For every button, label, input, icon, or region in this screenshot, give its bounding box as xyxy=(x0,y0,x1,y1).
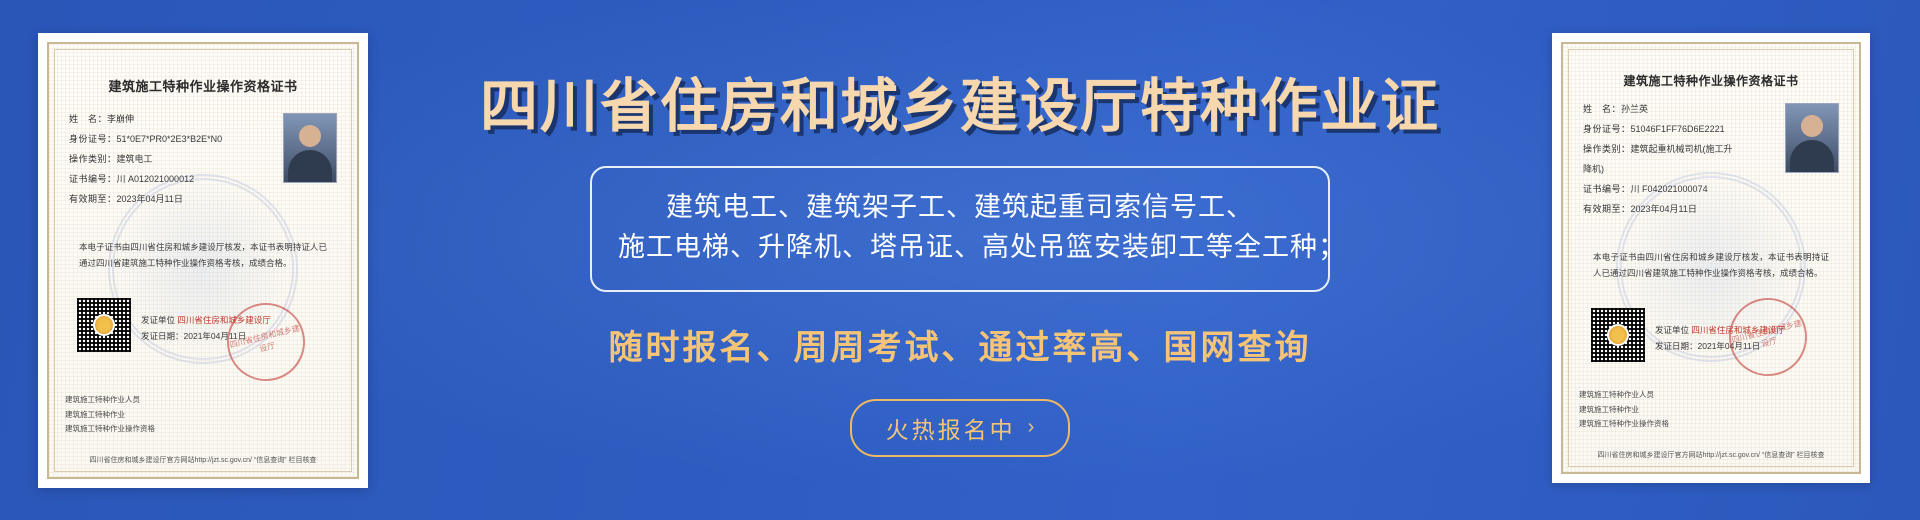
certificate-field-row: 姓 名：李崩伸 xyxy=(69,113,275,126)
certificate-photo-left xyxy=(283,113,337,183)
certificate-verify-url-right: 四川省住房和城乡建设厅官方网站http://jzt.sc.gov.cn/ “信息… xyxy=(1563,450,1859,460)
certificate-footer-left: 发证单位 四川省住房和城乡建设厅 发证日期：2021年04月11日 xyxy=(77,298,329,352)
note-line: 建筑施工特种作业操作资格 xyxy=(65,422,155,437)
field-value: 2023年04月11日 xyxy=(117,194,183,204)
certificate-footer-right: 发证单位 四川省住房和城乡建设厅 发证日期：2021年04月11日 xyxy=(1591,308,1831,362)
certificate-field-row: 身份证号：51046F1FF76D6E2221 xyxy=(1583,123,1777,136)
certificate-fields-left: 姓 名：李崩伸 身份证号：51*0E7*PR0*2E3*B2E*N0 操作类别：… xyxy=(69,113,275,213)
field-label: 操作类别： xyxy=(69,154,117,164)
qr-code-icon[interactable] xyxy=(77,298,131,352)
promo-banner: 建筑施工特种作业操作资格证书 姓 名：李崩伸 身份证号：51*0E7*PR0*2… xyxy=(0,0,1920,520)
certificate-field-row: 有效期至：2023年04月11日 xyxy=(1583,203,1777,216)
certificate-field-row: 姓 名：孙兰英 xyxy=(1583,103,1777,116)
certificate-notes-left: 建筑施工特种作业人员 建筑施工特种作业 建筑施工特种作业操作资格 xyxy=(65,393,155,437)
certificate-issue-right: 发证单位 四川省住房和城乡建设厅 发证日期：2021年04月11日 xyxy=(1655,308,1785,354)
field-value: 川 F042021000074 xyxy=(1631,184,1708,194)
certificate-paragraph-left: 本电子证书由四川省住房和城乡建设厅核发，本证书表明持证人已通过四川省建筑施工特种… xyxy=(79,239,327,271)
field-value: 建筑起重机械司机(施工升 xyxy=(1631,144,1733,154)
certificate-photo-right xyxy=(1785,103,1839,173)
scope-line-2: 施工电梯、升降机、塔吊证、高处吊篮安装卸工等全工种； xyxy=(618,228,1302,268)
field-label: 证书编号： xyxy=(1583,184,1631,194)
certificate-field-row: 操作类别：建筑起重机械司机(施工升 xyxy=(1583,143,1777,156)
note-line: 建筑施工特种作业人员 xyxy=(1579,388,1669,403)
certificate-field-row: 证书编号：川 A012021000012 xyxy=(69,173,275,186)
certificate-inner-left: 建筑施工特种作业操作资格证书 姓 名：李崩伸 身份证号：51*0E7*PR0*2… xyxy=(47,42,359,479)
field-label: 身份证号： xyxy=(69,134,117,144)
scope-line-1: 建筑电工、建筑架子工、建筑起重司索信号工、 xyxy=(618,188,1302,228)
field-label: 姓 名： xyxy=(1583,104,1621,114)
certificate-issue-left: 发证单位 四川省住房和城乡建设厅 发证日期：2021年04月11日 xyxy=(141,298,271,344)
certificate-field-row: 证书编号：川 F042021000074 xyxy=(1583,183,1777,196)
field-value: 川 A012021000012 xyxy=(117,174,195,184)
certificate-field-row: 操作类别：建筑电工 xyxy=(69,153,275,166)
issue-date: 2021年04月11日 xyxy=(1698,341,1761,351)
field-label: 有效期至： xyxy=(69,194,117,204)
banner-content: 四川省住房和城乡建设厅特种作业证 建筑电工、建筑架子工、建筑起重司索信号工、 施… xyxy=(372,0,1548,520)
certificate-fields-right: 姓 名：孙兰英 身份证号：51046F1FF76D6E2221 操作类别：建筑起… xyxy=(1583,103,1777,223)
field-value: 降机) xyxy=(1583,164,1604,174)
certificate-body-left: 姓 名：李崩伸 身份证号：51*0E7*PR0*2E3*B2E*N0 操作类别：… xyxy=(63,113,343,213)
certificate-card-left: 建筑施工特种作业操作资格证书 姓 名：李崩伸 身份证号：51*0E7*PR0*2… xyxy=(38,33,368,488)
field-value: 2023年04月11日 xyxy=(1631,204,1697,214)
page-title: 四川省住房和城乡建设厅特种作业证 xyxy=(480,78,1440,136)
certificate-inner-right: 建筑施工特种作业操作资格证书 姓 名：孙兰英 身份证号：51046F1FF76D… xyxy=(1561,42,1861,474)
issue-date-label: 发证日期： xyxy=(141,331,184,341)
field-label: 姓 名： xyxy=(69,114,107,124)
certificate-field-row: 身份证号：51*0E7*PR0*2E3*B2E*N0 xyxy=(69,133,275,146)
note-line: 建筑施工特种作业 xyxy=(65,408,155,423)
enroll-cta-button[interactable]: 火热报名中 › xyxy=(850,399,1071,457)
certificate-title-right: 建筑施工特种作业操作资格证书 xyxy=(1577,72,1845,89)
field-value: 李崩伸 xyxy=(107,114,134,124)
field-label: 证书编号： xyxy=(69,174,117,184)
note-line: 建筑施工特种作业 xyxy=(1579,403,1669,418)
certificate-verify-url-left: 四川省住房和城乡建设厅官方网站http://jzt.sc.gov.cn/ “信息… xyxy=(49,455,357,465)
issue-label: 发证单位 xyxy=(1655,325,1689,335)
note-line: 建筑施工特种作业人员 xyxy=(65,393,155,408)
issue-date: 2021年04月11日 xyxy=(184,331,247,341)
scope-info-box: 建筑电工、建筑架子工、建筑起重司索信号工、 施工电梯、升降机、塔吊证、高处吊篮安… xyxy=(590,166,1330,292)
certificate-card-right: 建筑施工特种作业操作资格证书 姓 名：孙兰英 身份证号：51046F1FF76D… xyxy=(1552,33,1870,483)
certificate-title-left: 建筑施工特种作业操作资格证书 xyxy=(63,76,343,95)
issue-org: 四川省住房和城乡建设厅 xyxy=(1691,325,1785,335)
field-value: 51*0E7*PR0*2E3*B2E*N0 xyxy=(117,134,223,144)
field-value: 孙兰英 xyxy=(1621,104,1648,114)
certificate-notes-right: 建筑施工特种作业人员 建筑施工特种作业 建筑施工特种作业操作资格 xyxy=(1579,388,1669,432)
certificate-field-row: 有效期至：2023年04月11日 xyxy=(69,193,275,206)
qr-code-icon[interactable] xyxy=(1591,308,1645,362)
certificate-field-row: 降机) xyxy=(1583,163,1777,176)
enroll-cta-label: 火热报名中 xyxy=(886,411,1016,445)
issue-label: 发证单位 xyxy=(141,315,175,325)
note-line: 建筑施工特种作业操作资格 xyxy=(1579,417,1669,432)
issue-date-label: 发证日期： xyxy=(1655,341,1698,351)
benefits-subtitle: 随时报名、周周考试、通过率高、国网查询 xyxy=(609,320,1312,369)
field-label: 身份证号： xyxy=(1583,124,1631,134)
field-value: 建筑电工 xyxy=(117,154,153,164)
field-label: 有效期至： xyxy=(1583,204,1631,214)
chevron-right-icon: › xyxy=(1028,416,1035,439)
field-label: 操作类别： xyxy=(1583,144,1631,154)
field-value: 51046F1FF76D6E2221 xyxy=(1631,124,1725,134)
certificate-paragraph-right: 本电子证书由四川省住房和城乡建设厅核发，本证书表明持证人已通过四川省建筑施工特种… xyxy=(1593,249,1829,281)
issue-org: 四川省住房和城乡建设厅 xyxy=(177,315,271,325)
certificate-body-right: 姓 名：孙兰英 身份证号：51046F1FF76D6E2221 操作类别：建筑起… xyxy=(1577,103,1845,223)
